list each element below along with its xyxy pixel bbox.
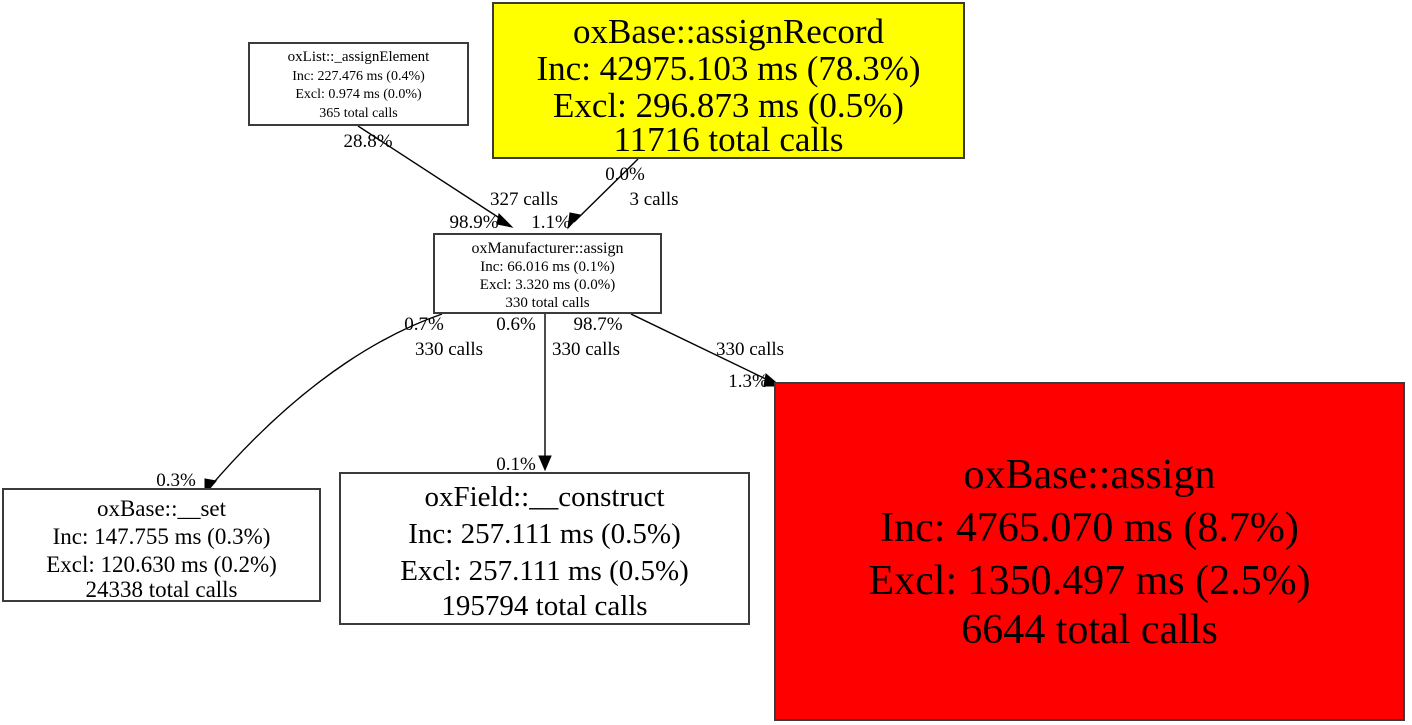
node-inclusive-time: Inc: 257.111 ms (0.5%) xyxy=(408,518,681,550)
node-total-calls: 11716 total calls xyxy=(613,120,843,159)
node-total-calls: 195794 total calls xyxy=(441,590,647,622)
node-exclusive-time: Excl: 1350.497 ms (2.5%) xyxy=(868,558,1310,604)
node-inclusive-time: Inc: 227.476 ms (0.4%) xyxy=(292,69,425,84)
edge-tail-percent: 98.7% xyxy=(573,314,622,335)
node-function-name: oxField::__construct xyxy=(424,481,664,513)
node-function-name: oxList::_assignElement xyxy=(288,49,430,65)
edge-manufacturer-to-construct[interactable]: 0.6% 330 calls 0.1% xyxy=(496,314,620,475)
edge-head-percent: 0.1% xyxy=(496,454,536,475)
call-graph-svg: 28.8% 327 calls 98.9% 0.0% 3 calls 1.1% … xyxy=(0,0,1412,725)
node-function-name: oxBase::assignRecord xyxy=(573,12,885,51)
node-oxbase-assignrecord[interactable]: oxBase::assignRecord Inc: 42975.103 ms (… xyxy=(493,3,964,159)
edge-calls-label: 330 calls xyxy=(716,339,784,360)
node-inclusive-time: Inc: 42975.103 ms (78.3%) xyxy=(537,49,921,88)
edge-tail-percent: 28.8% xyxy=(343,131,392,152)
node-total-calls: 24338 total calls xyxy=(85,577,237,602)
arrowhead-icon xyxy=(539,456,551,470)
node-total-calls: 365 total calls xyxy=(319,106,398,121)
edge-line xyxy=(209,314,442,488)
call-graph-canvas: 28.8% 327 calls 98.9% 0.0% 3 calls 1.1% … xyxy=(0,0,1412,725)
edge-head-percent: 1.3% xyxy=(728,371,768,392)
node-inclusive-time: Inc: 66.016 ms (0.1%) xyxy=(480,259,615,275)
edge-calls-label: 330 calls xyxy=(552,339,620,360)
node-exclusive-time: Excl: 257.111 ms (0.5%) xyxy=(400,555,689,587)
node-inclusive-time: Inc: 4765.070 ms (8.7%) xyxy=(880,505,1299,551)
node-box xyxy=(775,383,1404,720)
edge-head-percent: 0.3% xyxy=(156,470,196,491)
node-oxbase-assign[interactable]: oxBase::assign Inc: 4765.070 ms (8.7%) E… xyxy=(775,383,1404,720)
node-total-calls: 330 total calls xyxy=(505,295,589,311)
edge-calls-label: 327 calls xyxy=(490,189,558,210)
node-inclusive-time: Inc: 147.755 ms (0.3%) xyxy=(53,524,271,549)
node-oxmanufacturer-assign[interactable]: oxManufacturer::assign Inc: 66.016 ms (0… xyxy=(434,234,661,313)
edge-calls-label: 3 calls xyxy=(629,189,678,210)
node-exclusive-time: Excl: 3.320 ms (0.0%) xyxy=(480,277,615,293)
edge-tail-percent: 0.6% xyxy=(496,314,536,335)
node-function-name: oxManufacturer::assign xyxy=(472,240,624,257)
node-exclusive-time: Excl: 120.630 ms (0.2%) xyxy=(46,552,277,577)
edge-head-percent: 98.9% xyxy=(449,212,498,233)
edge-tail-percent: 0.0% xyxy=(605,164,645,185)
node-exclusive-time: Excl: 0.974 ms (0.0%) xyxy=(295,87,422,102)
node-function-name: oxBase::__set xyxy=(97,496,227,521)
arrowhead-icon xyxy=(497,214,512,227)
edge-tail-percent: 0.7% xyxy=(404,314,444,335)
node-function-name: oxBase::assign xyxy=(964,452,1216,498)
edge-head-percent: 1.1% xyxy=(531,212,571,233)
node-oxfield-construct[interactable]: oxField::__construct Inc: 257.111 ms (0.… xyxy=(340,473,749,624)
node-total-calls: 6644 total calls xyxy=(961,607,1218,653)
edge-calls-label: 330 calls xyxy=(415,339,483,360)
node-oxlist-assignelement[interactable]: oxList::_assignElement Inc: 227.476 ms (… xyxy=(249,43,468,125)
edge-manufacturer-to-set[interactable]: 0.7% 330 calls 0.3% xyxy=(156,314,483,494)
node-oxbase-set[interactable]: oxBase::__set Inc: 147.755 ms (0.3%) Exc… xyxy=(3,489,320,602)
